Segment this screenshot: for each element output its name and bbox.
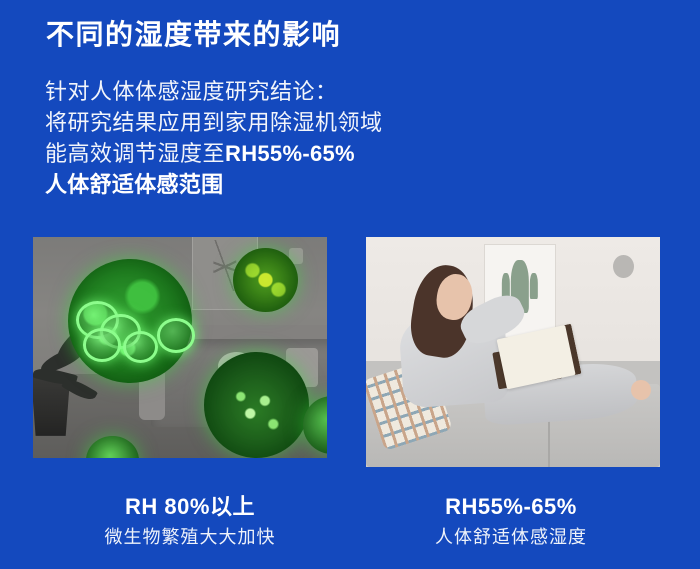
microbe-cell [157,318,195,352]
caption-title-comfort-humidity: RH55%-65% [366,493,656,521]
caption-comfort-humidity: RH55%-65% 人体舒适体感湿度 [366,493,656,550]
scene-bright-living-room [366,237,660,467]
microbe-cluster-large [68,259,191,383]
panel-captions: RH 80%以上 微生物繁殖大大加快 RH55%-65% 人体舒适体感湿度 [0,493,700,563]
wall-speaker [613,255,634,278]
humidity-effects-poster: 不同的湿度带来的影响 针对人体体感湿度研究结论： 将研究结果应用到家用除湿机领域… [0,0,700,569]
photo-high-humidity-mold [33,237,327,458]
microbe-cluster-small-top [233,248,298,312]
scene-dim-living-room [33,237,327,458]
comparison-panels [0,0,700,569]
microbe-cluster-bottom [204,352,310,458]
microbe-cell [83,328,121,361]
caption-high-humidity: RH 80%以上 微生物繁殖大大加快 [45,493,335,550]
caption-sub-high-humidity: 微生物繁殖大大加快 [45,525,335,550]
photo-comfort-humidity-woman-reading [366,237,660,467]
caption-sub-comfort-humidity: 人体舒适体感湿度 [366,525,656,550]
caption-title-high-humidity: RH 80%以上 [45,493,335,521]
microbe-cell [123,331,159,363]
